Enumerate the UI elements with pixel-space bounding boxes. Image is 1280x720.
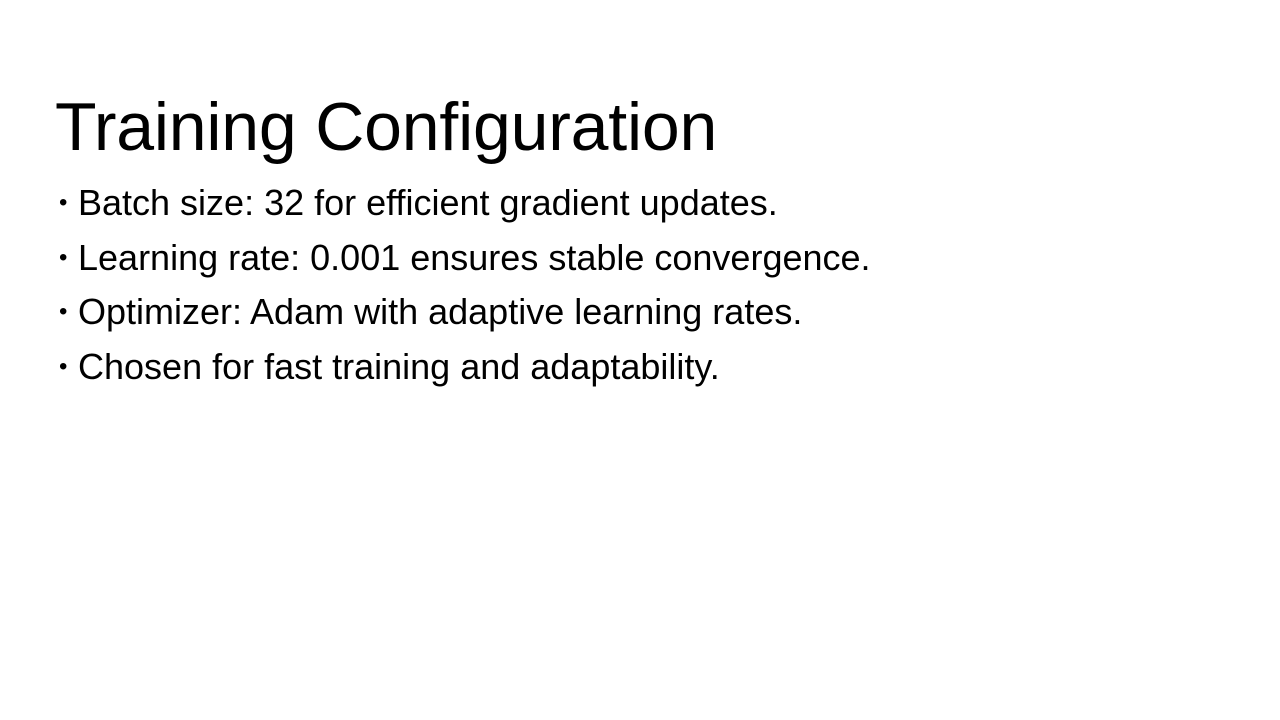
- list-item-label: Learning rate: 0.001 ensures stable conv…: [78, 237, 871, 279]
- bullet-dot-icon: •: [59, 237, 75, 279]
- list-item: • Learning rate: 0.001 ensures stable co…: [55, 237, 1225, 292]
- list-item: • Optimizer: Adam with adaptive learning…: [55, 291, 1225, 346]
- list-item-label: Chosen for fast training and adaptabilit…: [78, 346, 720, 388]
- page-title: Training Configuration: [55, 93, 1225, 161]
- list-item: • Chosen for fast training and adaptabil…: [55, 346, 1225, 401]
- bullet-dot-icon: •: [59, 182, 75, 224]
- bullet-list: • Batch size: 32 for efficient gradient …: [55, 182, 1225, 400]
- list-item-label: Batch size: 32 for efficient gradient up…: [78, 182, 778, 224]
- list-item: • Batch size: 32 for efficient gradient …: [55, 182, 1225, 237]
- slide-canvas: Training Configuration • Batch size: 32 …: [0, 0, 1280, 720]
- bullet-dot-icon: •: [59, 346, 75, 388]
- bullet-dot-icon: •: [59, 291, 75, 333]
- list-item-label: Optimizer: Adam with adaptive learning r…: [78, 291, 802, 333]
